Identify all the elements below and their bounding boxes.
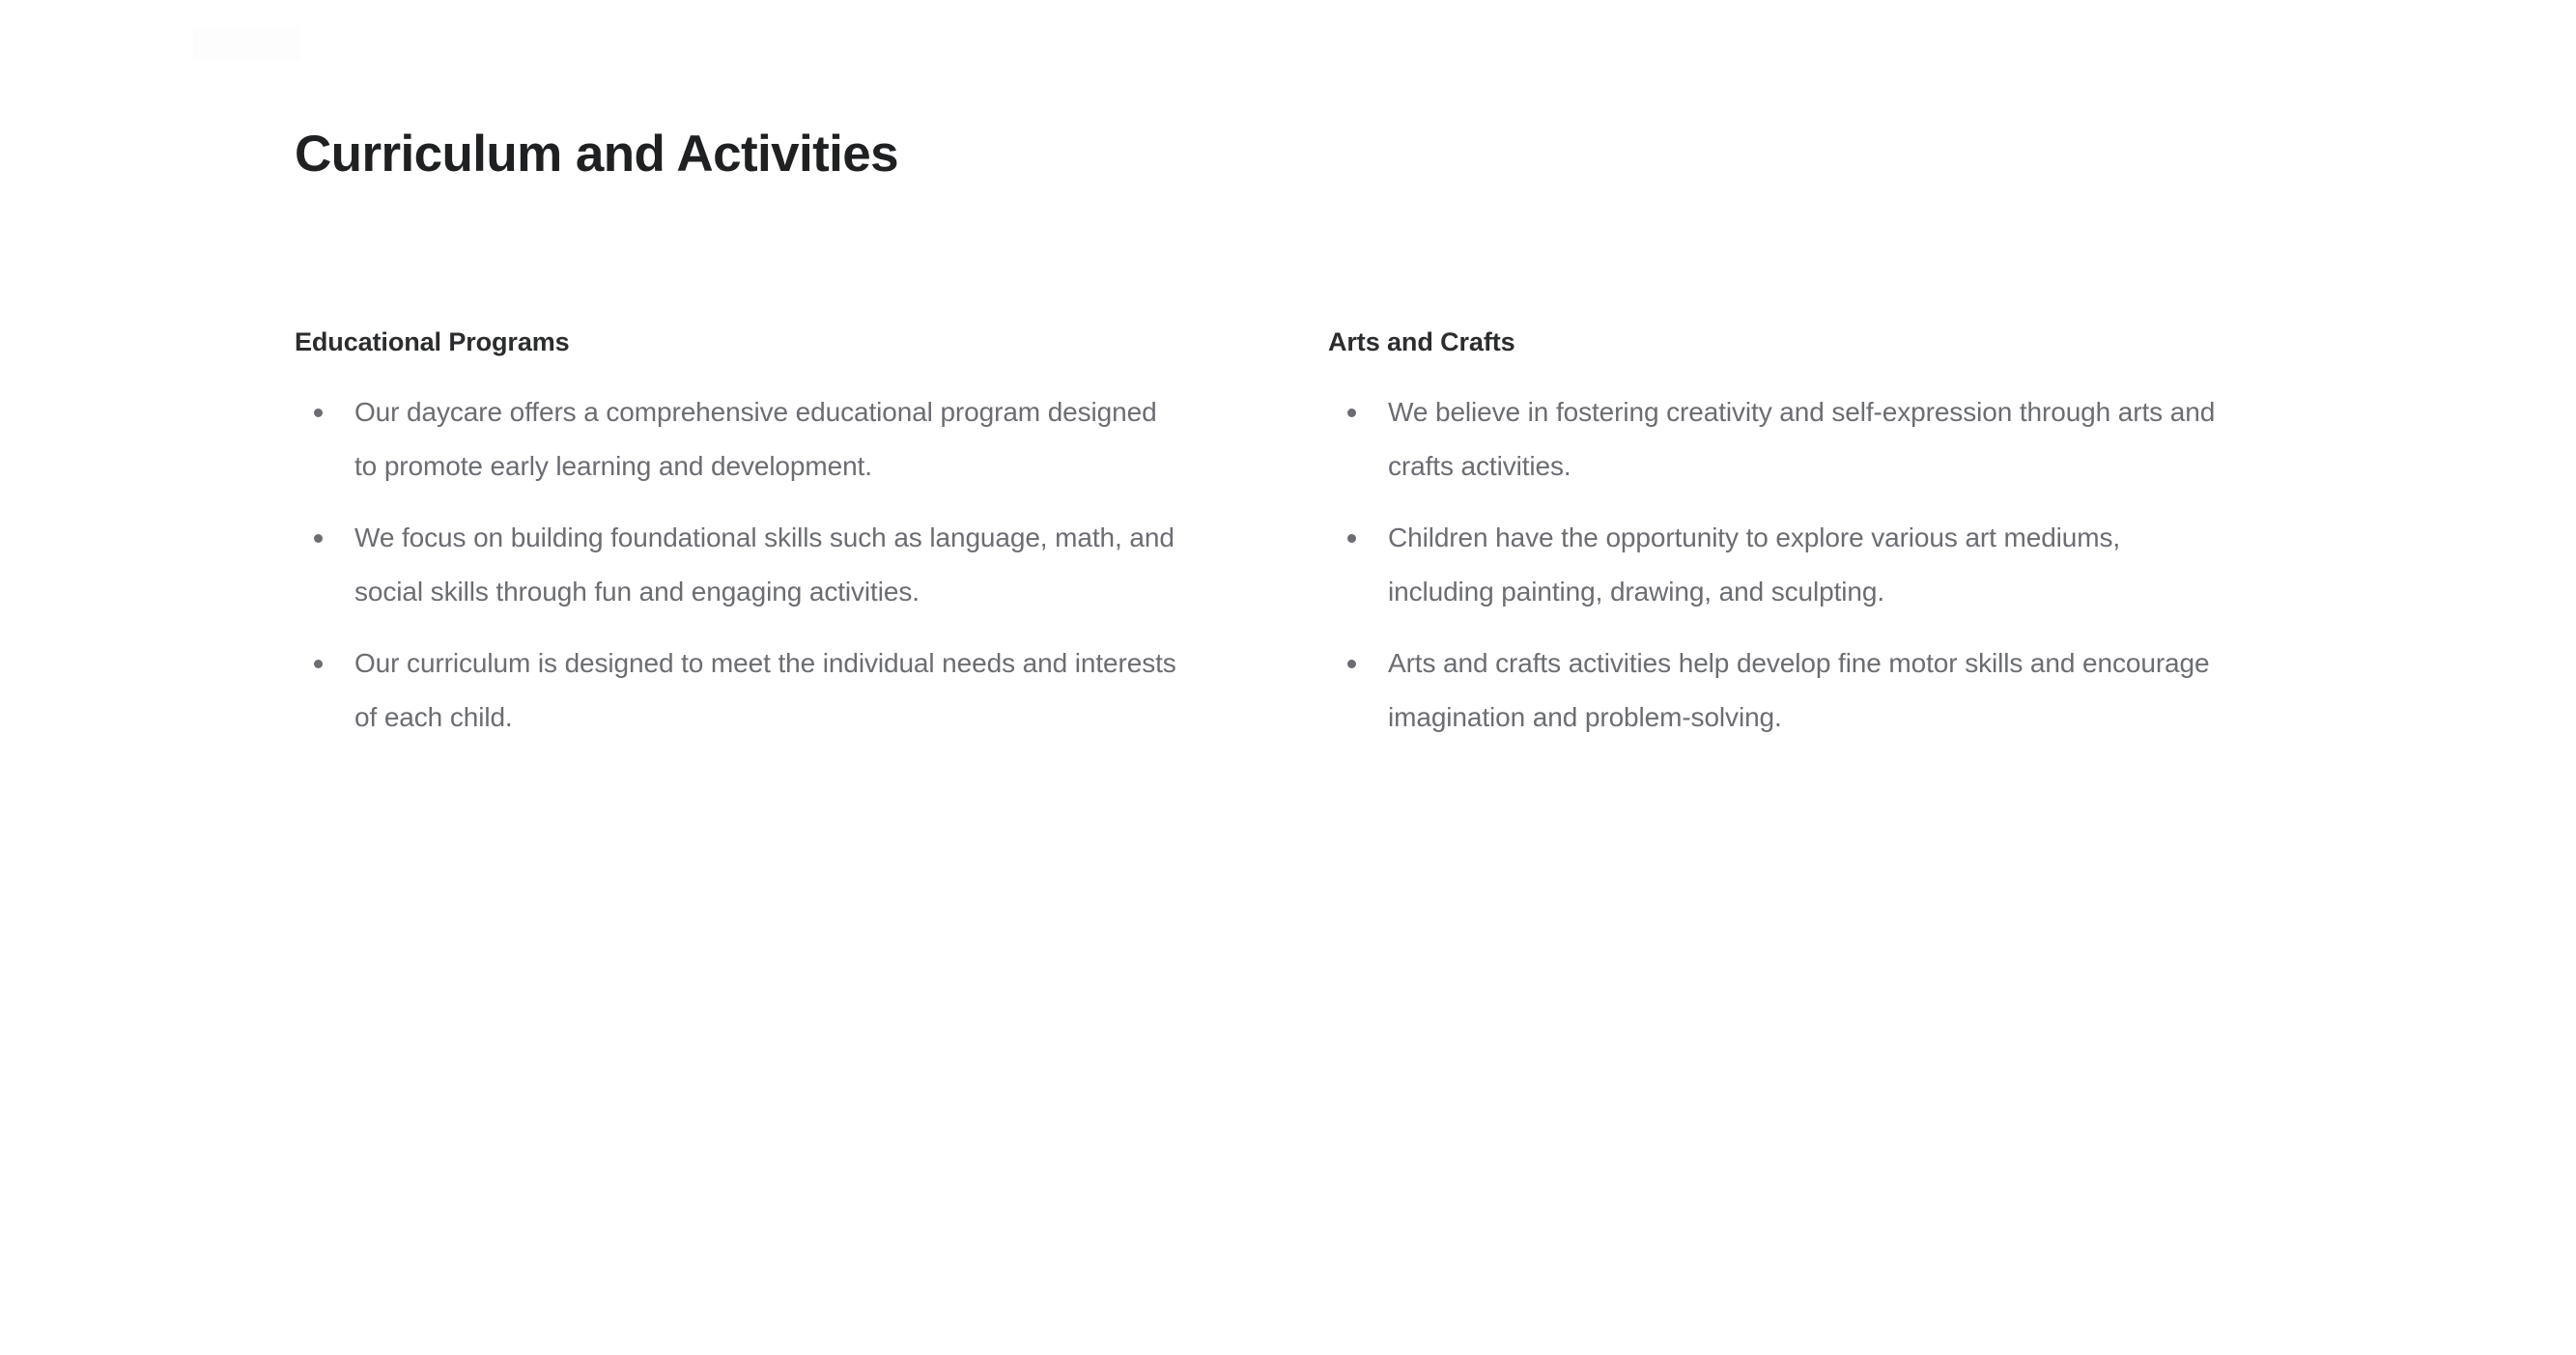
list-item: Our daycare offers a comprehensive educa… (295, 385, 1183, 494)
two-column-layout: Educational Programs Our daycare offers … (295, 325, 2333, 745)
column-heading-educational-programs: Educational Programs (295, 325, 1183, 358)
bullet-dot-icon (314, 534, 323, 543)
bullet-dot-icon (314, 409, 323, 417)
list-item-text: Arts and crafts activities help develop … (1388, 636, 2217, 745)
bullet-dot-icon (1347, 534, 1356, 543)
list-item-text: Children have the opportunity to explore… (1388, 511, 2217, 619)
list-item: Arts and crafts activities help develop … (1328, 636, 2217, 745)
list-item-text: We believe in fostering creativity and s… (1388, 385, 2217, 494)
corner-artifact-mark (193, 27, 299, 60)
column-heading-arts-and-crafts: Arts and Crafts (1328, 325, 2217, 358)
bullet-dot-icon (1347, 409, 1356, 417)
list-item: Our curriculum is designed to meet the i… (295, 636, 1183, 745)
list-item-text: We focus on building foundational skills… (354, 511, 1183, 619)
list-item-text: Our daycare offers a comprehensive educa… (354, 385, 1183, 494)
page-root: Curriculum and Activities Educational Pr… (0, 0, 2576, 1355)
list-item: Children have the opportunity to explore… (1328, 511, 2217, 619)
bullet-dot-icon (314, 660, 323, 668)
list-item: We focus on building foundational skills… (295, 511, 1183, 619)
page-title: Curriculum and Activities (295, 122, 898, 187)
bullet-list-arts-and-crafts: We believe in fostering creativity and s… (1328, 385, 2217, 745)
bullet-dot-icon (1347, 660, 1356, 668)
list-item: We believe in fostering creativity and s… (1328, 385, 2217, 494)
list-item-text: Our curriculum is designed to meet the i… (354, 636, 1183, 745)
column-arts-and-crafts: Arts and Crafts We believe in fostering … (1328, 325, 2217, 745)
column-educational-programs: Educational Programs Our daycare offers … (295, 325, 1183, 745)
bullet-list-educational-programs: Our daycare offers a comprehensive educa… (295, 385, 1183, 745)
